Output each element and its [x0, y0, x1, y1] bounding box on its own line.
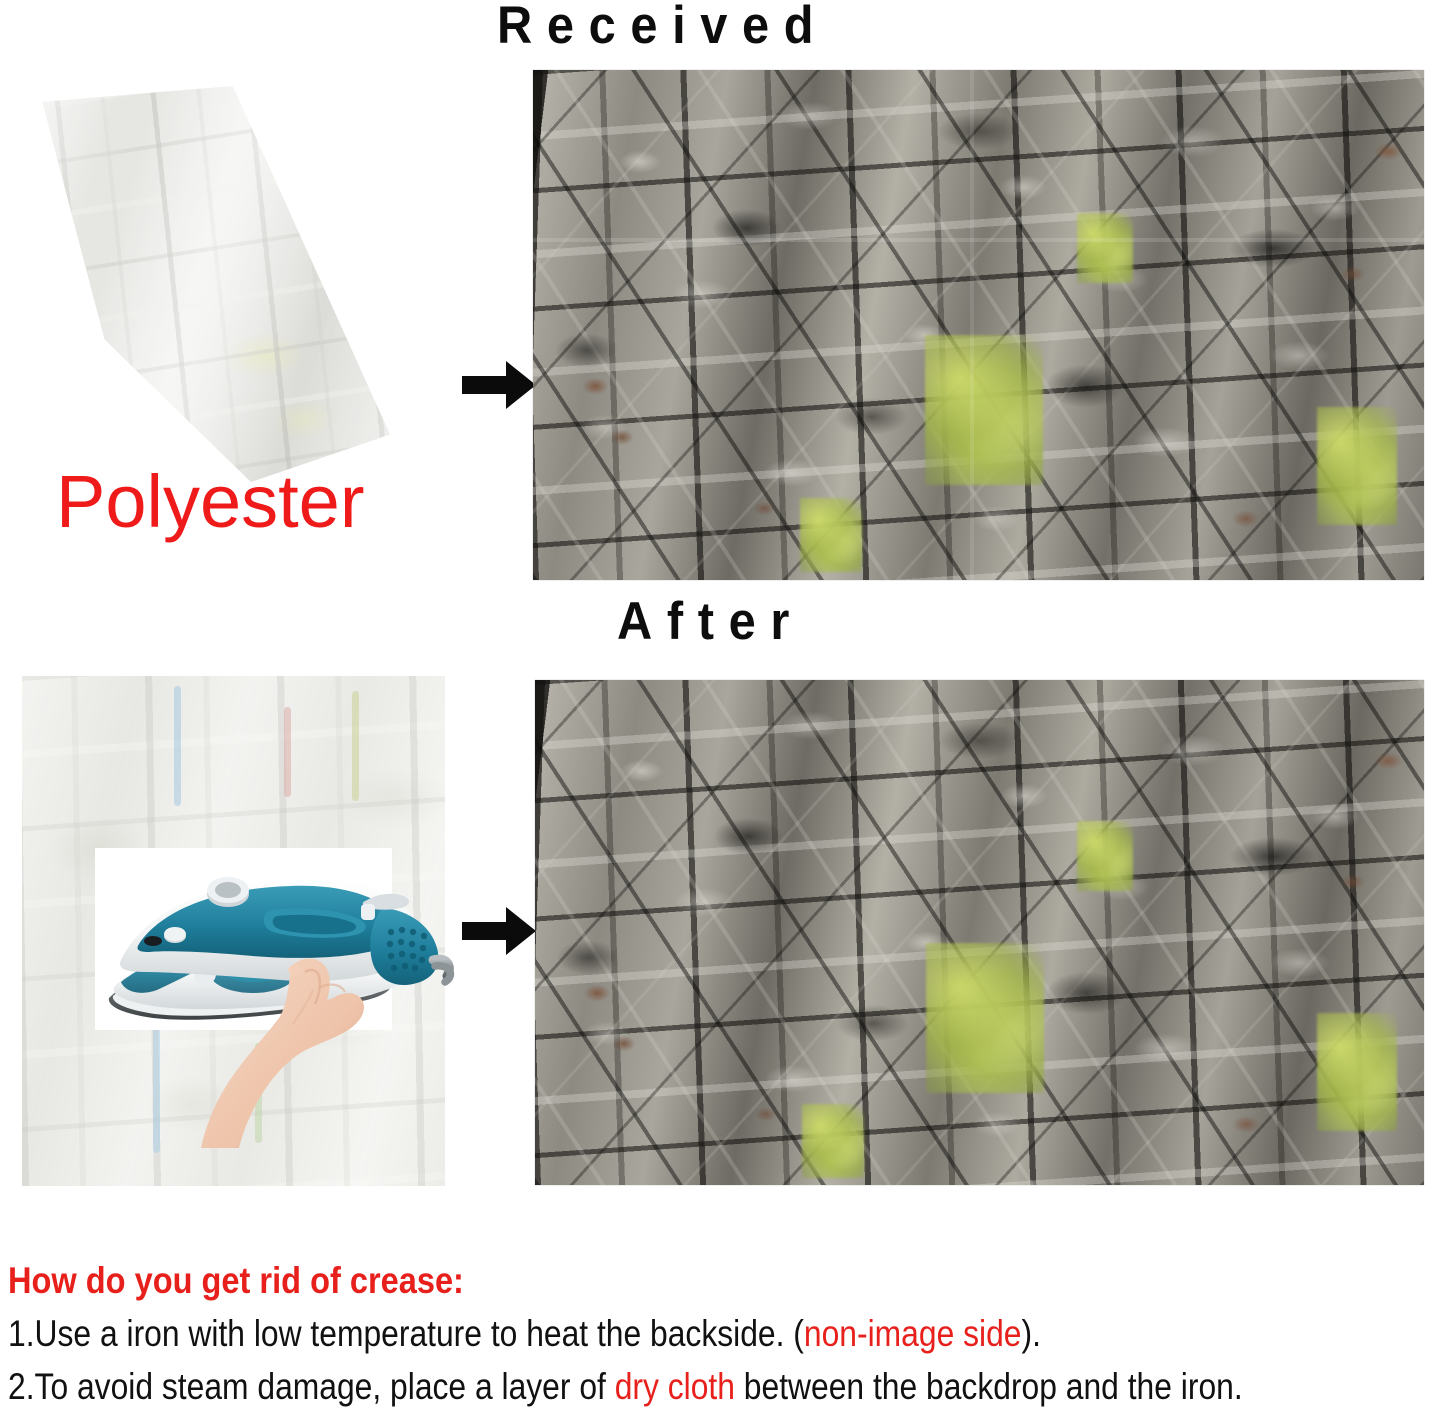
- polyester-label: Polyester: [56, 462, 364, 542]
- color-streak-1: [174, 686, 181, 806]
- fabric-seam-vertical: [970, 70, 974, 580]
- folded-fabric-image: [24, 86, 390, 482]
- rock-pebble-accents: [535, 680, 1424, 1185]
- instructions-heading: How do you get rid of crease:: [8, 1258, 1261, 1304]
- rock-backdrop-received-image: [533, 70, 1424, 580]
- arrow-right-icon: [462, 903, 536, 959]
- moss-cluster-center: [926, 943, 1044, 1093]
- moss-cluster-upper: [1077, 213, 1133, 283]
- color-streak-5: [255, 1043, 262, 1143]
- step-1-prefix: 1.Use a iron with low temperature to hea…: [8, 1313, 804, 1354]
- moss-cluster-right: [1317, 1013, 1397, 1131]
- moss-cluster-upper: [1077, 821, 1133, 891]
- arrow-right-icon: [462, 357, 536, 413]
- moss-cluster-lower: [800, 498, 862, 572]
- rock-pebble-accents: [533, 70, 1424, 580]
- fabric-seam-horizontal: [533, 238, 1424, 242]
- moss-cluster-right: [1317, 407, 1397, 525]
- color-streak-4: [153, 1023, 160, 1153]
- iron-photo-card: [95, 848, 392, 1030]
- section-title-received: Received: [497, 0, 828, 54]
- instruction-step-1: 1.Use a iron with low temperature to hea…: [8, 1310, 1233, 1357]
- rock-backdrop-after-image: [535, 680, 1424, 1185]
- color-streak-3: [352, 691, 359, 801]
- instructions-block: How do you get rid of crease: 1.Use a ir…: [8, 1258, 1432, 1410]
- moss-cluster-center: [925, 335, 1043, 485]
- step-1-highlight: non-image side: [804, 1313, 1022, 1354]
- step-1-suffix: ).: [1021, 1313, 1040, 1354]
- moss-cluster-lower: [802, 1104, 864, 1178]
- section-title-after: After: [617, 594, 804, 650]
- instruction-step-2: 2.To avoid steam damage, place a layer o…: [8, 1363, 1233, 1410]
- fabric-sheen-overlay: [24, 86, 390, 482]
- color-streak-2: [284, 707, 291, 797]
